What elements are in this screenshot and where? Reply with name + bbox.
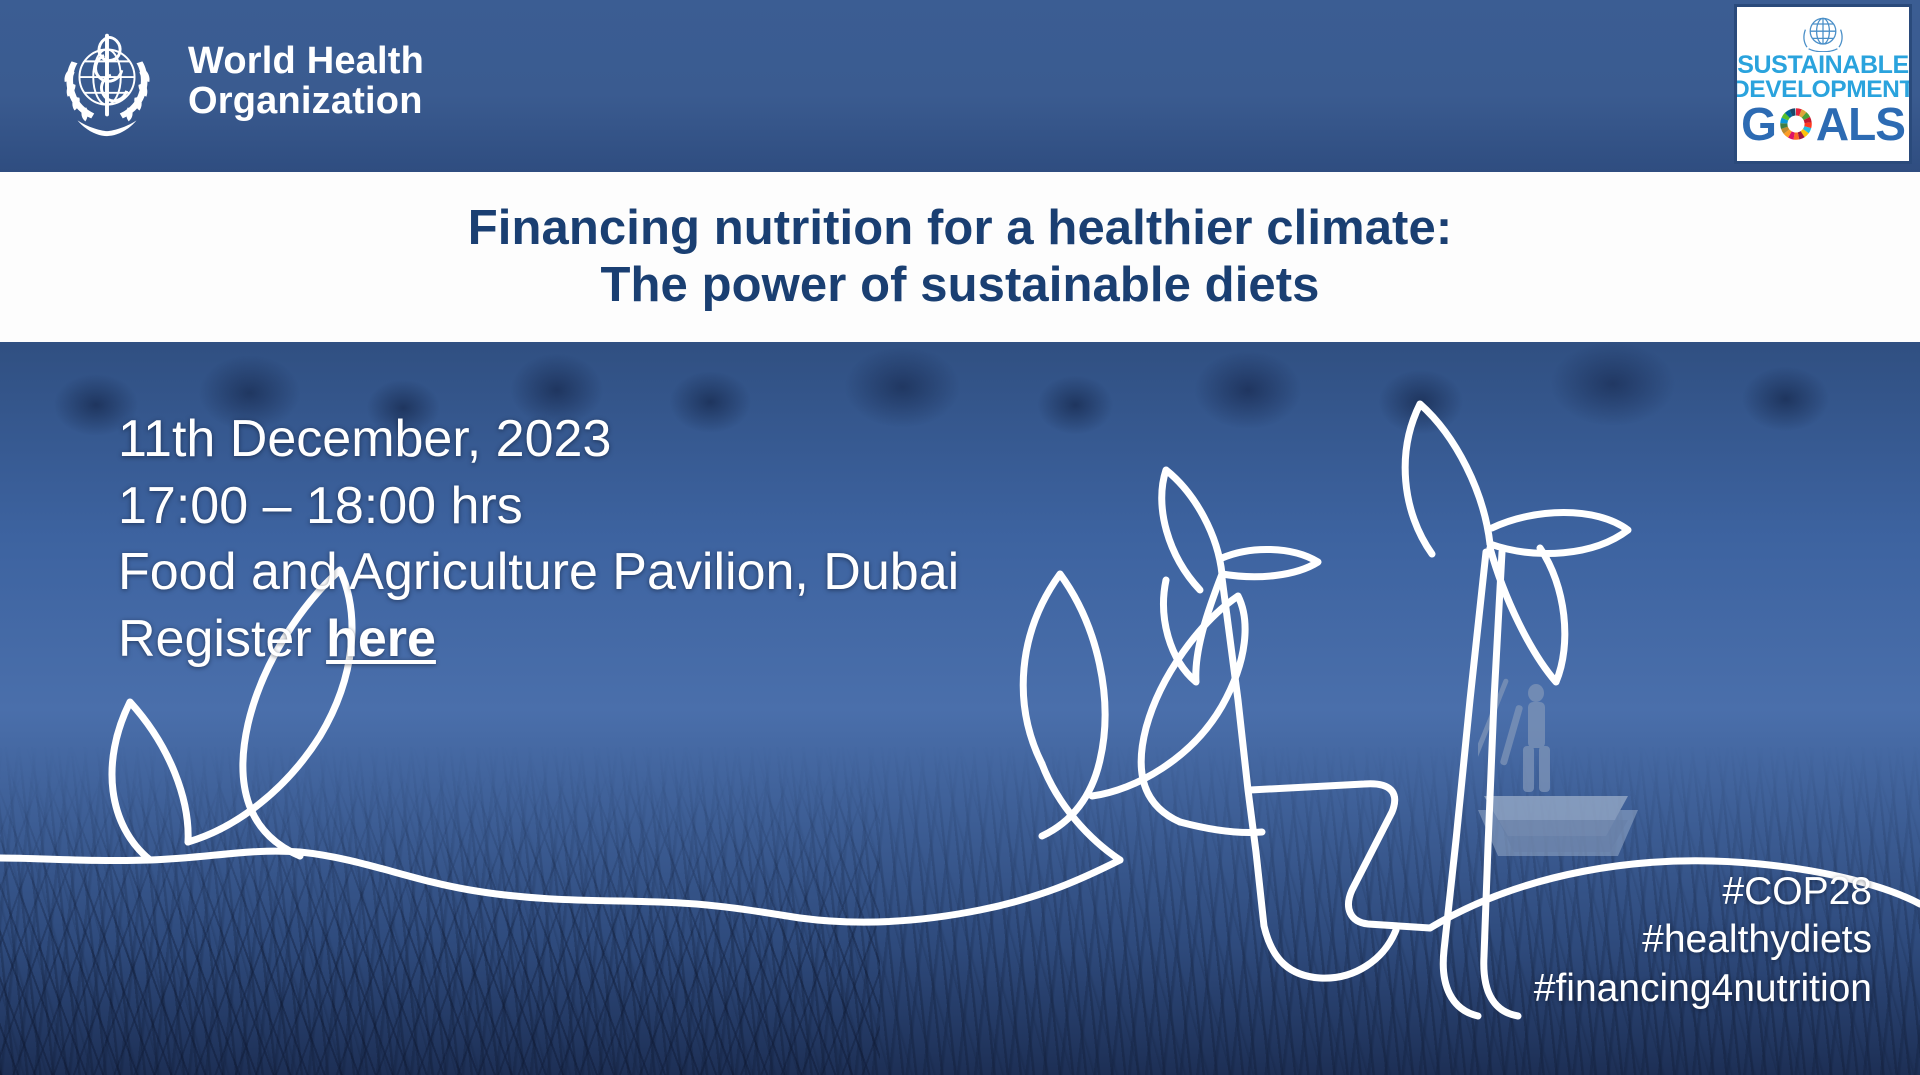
sdg-text-goals: G: [1741, 101, 1905, 147]
who-logo-lockup: World Health Organization: [48, 22, 424, 140]
who-emblem-icon: [48, 22, 166, 140]
event-details: 11th December, 2023 17:00 – 18:00 hrs Fo…: [118, 406, 959, 672]
fisherman-on-boat-icon: [1478, 660, 1658, 890]
hashtag-healthydiets: #healthydiets: [1534, 916, 1872, 964]
photo-reeds-left: [0, 775, 880, 1075]
sdg-color-wheel-icon: [1777, 105, 1815, 143]
sdg-goals-g: G: [1741, 101, 1776, 147]
hashtag-financing4nutrition: #financing4nutrition: [1534, 965, 1872, 1013]
who-wordmark-line2: Organization: [188, 81, 424, 121]
event-time: 17:00 – 18:00 hrs: [118, 473, 959, 540]
sdg-goals-als: ALS: [1816, 101, 1905, 147]
who-wordmark: World Health Organization: [188, 41, 424, 122]
hashtag-cop28: #COP28: [1534, 868, 1872, 916]
register-label: Register: [118, 610, 326, 668]
event-date: 11th December, 2023: [118, 406, 959, 473]
event-register-row: Register here: [118, 606, 959, 673]
un-emblem-icon: [1799, 12, 1847, 52]
title-band: Financing nutrition for a healthier clim…: [0, 172, 1920, 342]
header-bar: World Health Organization SUSTAINABLE: [0, 0, 1920, 172]
hashtag-block: #COP28 #healthydiets #financing4nutritio…: [1534, 868, 1872, 1013]
event-venue: Food and Agriculture Pavilion, Dubai: [118, 539, 959, 606]
page-title-line1: Financing nutrition for a healthier clim…: [468, 200, 1453, 257]
event-promo-poster: World Health Organization SUSTAINABLE: [0, 0, 1920, 1075]
sdg-logo: SUSTAINABLE DEVELOPMENT G: [1734, 4, 1912, 164]
page-title-line2: The power of sustainable diets: [600, 257, 1319, 314]
who-wordmark-line1: World Health: [188, 41, 424, 81]
sdg-text-sustainable: SUSTAINABLE: [1737, 53, 1909, 77]
register-here-link[interactable]: here: [326, 610, 436, 668]
